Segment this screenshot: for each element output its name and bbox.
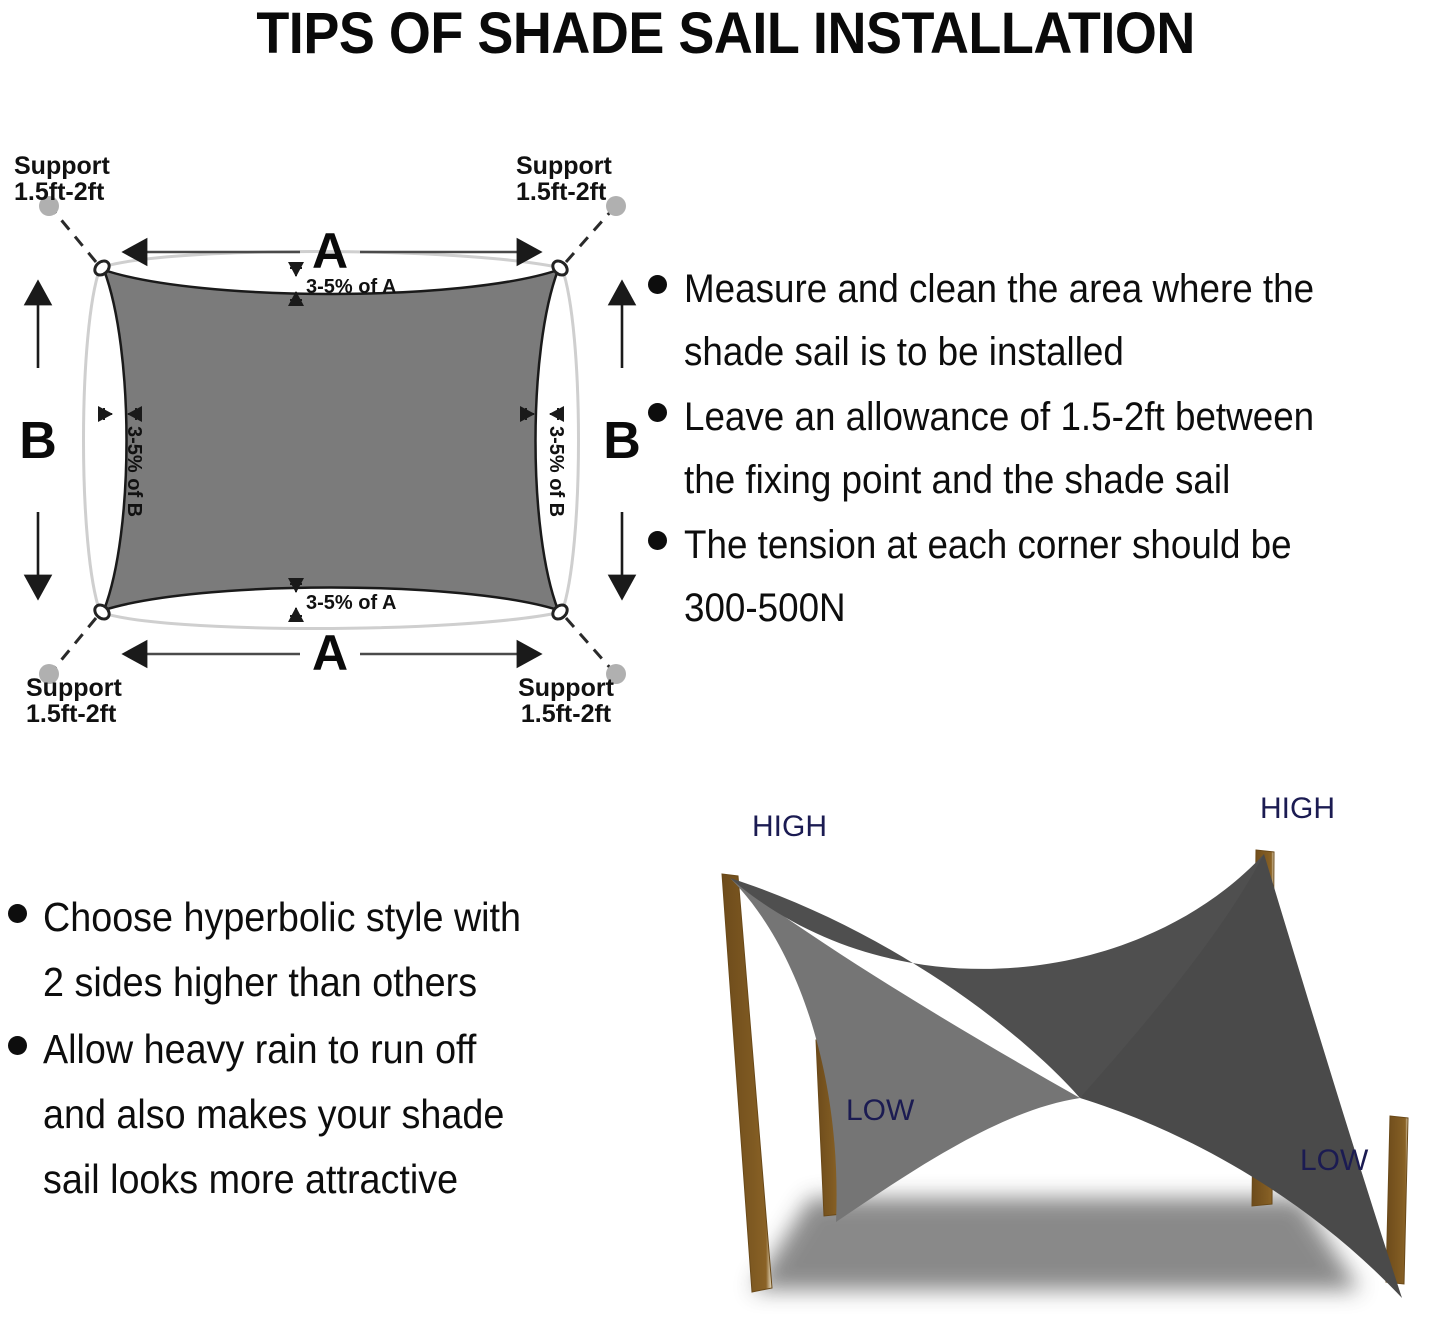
bullet-dot-icon [8,1036,27,1055]
hyperbolic-sail-diagram: HIGH HIGH LOW LOW [660,780,1452,1325]
post-low-right [1386,1116,1408,1284]
hyperbolic-tips-list: Choose hyperbolic style with 2 sides hig… [0,885,640,1214]
support-label-bottom-right-line2: 1.5ft-2ft [521,700,612,728]
post-high-left [722,874,772,1292]
list-item: The tension at each corner should be 300… [648,514,1452,640]
dimension-label-a-top: A [312,223,348,279]
label-high-left: HIGH [752,810,827,843]
installation-tips-list: Measure and clean the area where the sha… [648,258,1452,642]
sail-body [104,270,558,610]
support-label-top-right-line2: 1.5ft-2ft [516,178,607,206]
support-label-bottom-left-line1: Support [26,674,122,702]
support-label-bottom-right: Support 1.5ft-2ft [518,674,614,728]
list-item-text: Choose hyperbolic style with 2 sides hig… [43,885,521,1015]
label-low-right: LOW [1300,1144,1369,1177]
bullet-dot-icon [8,904,27,923]
support-label-top-left: Support 1.5ft-2ft [14,152,110,206]
title-bar: TIPS OF SHADE SAIL INSTALLATION [0,0,1452,62]
curve-depth-right-label: 3-5% of B [545,426,567,517]
list-item-text: Leave an allowance of 1.5-2ft between th… [684,386,1314,512]
support-label-top-left-line1: Support [14,152,110,180]
bullet-dot-icon [648,531,667,550]
top-section: A A B B [0,150,1452,760]
list-item: Choose hyperbolic style with 2 sides hig… [0,885,640,1015]
label-low-left: LOW [846,1094,915,1127]
list-item: Allow heavy rain to run off and also mak… [0,1017,640,1212]
curve-depth-top-label: 3-5% of A [306,276,396,298]
bullet-dot-icon [648,403,667,422]
support-label-bottom-left-line2: 1.5ft-2ft [26,700,117,728]
support-label-bottom-right-line1: Support [518,674,614,702]
list-item-text: Allow heavy rain to run off and also mak… [43,1017,504,1212]
list-item: Measure and clean the area where the sha… [648,258,1452,384]
label-high-right: HIGH [1260,792,1335,825]
bottom-section: Choose hyperbolic style with 2 sides hig… [0,770,1452,1325]
support-label-top-left-line2: 1.5ft-2ft [14,178,105,206]
support-label-top-right-line1: Support [516,152,612,180]
dimension-label-b-right: B [603,412,641,470]
rectangular-sail-diagram: A A B B [0,150,660,740]
list-item-text: Measure and clean the area where the sha… [684,258,1314,384]
curve-depth-left-label: 3-5% of B [123,426,145,517]
page-title: TIPS OF SHADE SAIL INSTALLATION [257,0,1196,67]
curve-depth-bottom-label: 3-5% of A [306,592,396,614]
support-label-bottom-left: Support 1.5ft-2ft [26,674,122,728]
dimension-label-a-bottom: A [312,625,348,681]
bullet-dot-icon [648,275,667,294]
support-label-top-right: Support 1.5ft-2ft [516,152,612,206]
sail-lobe-light [730,878,1080,1222]
list-item: Leave an allowance of 1.5-2ft between th… [648,386,1452,512]
list-item-text: The tension at each corner should be 300… [684,514,1292,640]
dimension-label-b-left: B [19,412,57,470]
